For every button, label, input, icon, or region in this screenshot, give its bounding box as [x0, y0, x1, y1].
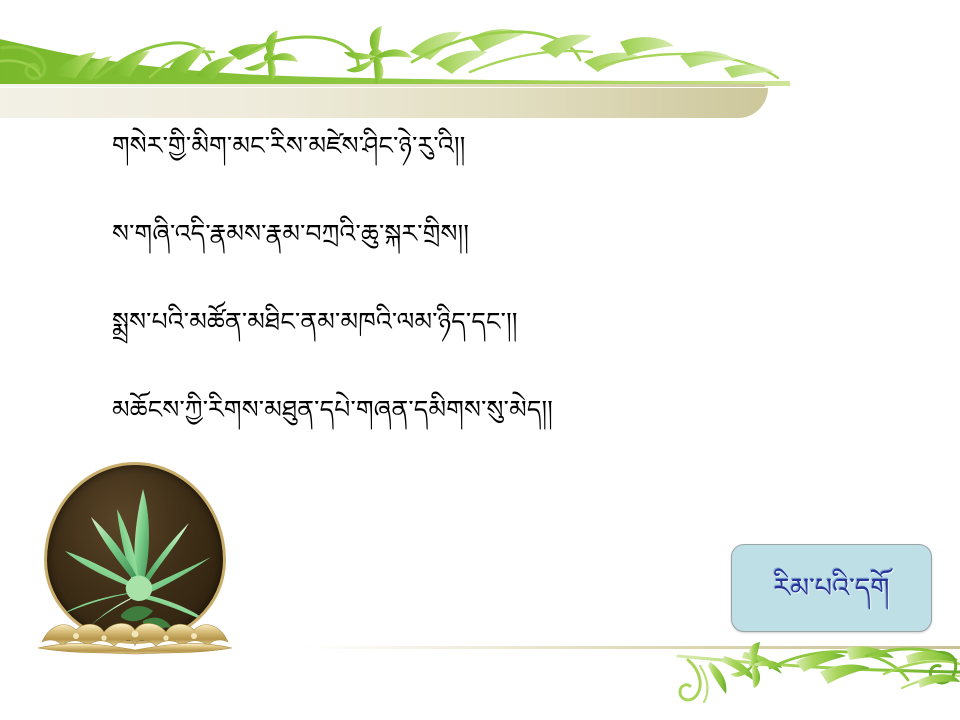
- verse-line-1: གསེར་གྱི་མིག་མང་རིས་མཛེས་ཤིང་ཉེ་རུ་འི།།: [112, 132, 902, 160]
- plant-photo-medallion: [44, 462, 226, 644]
- cream-banner: [0, 88, 768, 118]
- verse-line-4: མཆོངས་ཀྱི་རིགས་མཐུན་དཔེ་གཞན་དམིགས་སུ་མེད…: [112, 396, 902, 424]
- gold-ornament-base: [32, 612, 238, 658]
- verse-line-3: སྨྲས་པའི་མཚོན་མཐིང་ནམ་མཁའི་ལམ་ཉིད་དང་།།: [112, 308, 902, 336]
- floral-scroll-green-bottom-icon: [670, 640, 960, 718]
- verse-text-block: གསེར་གྱི་མིག་མང་རིས་མཛེས་ཤིང་ཉེ་རུ་འི།། …: [112, 132, 902, 424]
- floral-scroll-green-top-icon: [0, 18, 790, 90]
- next-slide-button[interactable]: རིམ་པའི་དགོ: [731, 544, 932, 632]
- banner-hairline: [0, 84, 765, 87]
- next-slide-button-label: རིམ་པའི་དགོ: [773, 575, 889, 602]
- slide-canvas: གསེར་གྱི་མིག་མང་རིས་མཛེས་ཤིང་ཉེ་རུ་འི།། …: [0, 0, 960, 720]
- verse-line-2: ས་གཞི་འདི་རྣམས་རྣམ་བཀྲའི་ཆུ་སྐར་གྲིས།།: [112, 220, 902, 248]
